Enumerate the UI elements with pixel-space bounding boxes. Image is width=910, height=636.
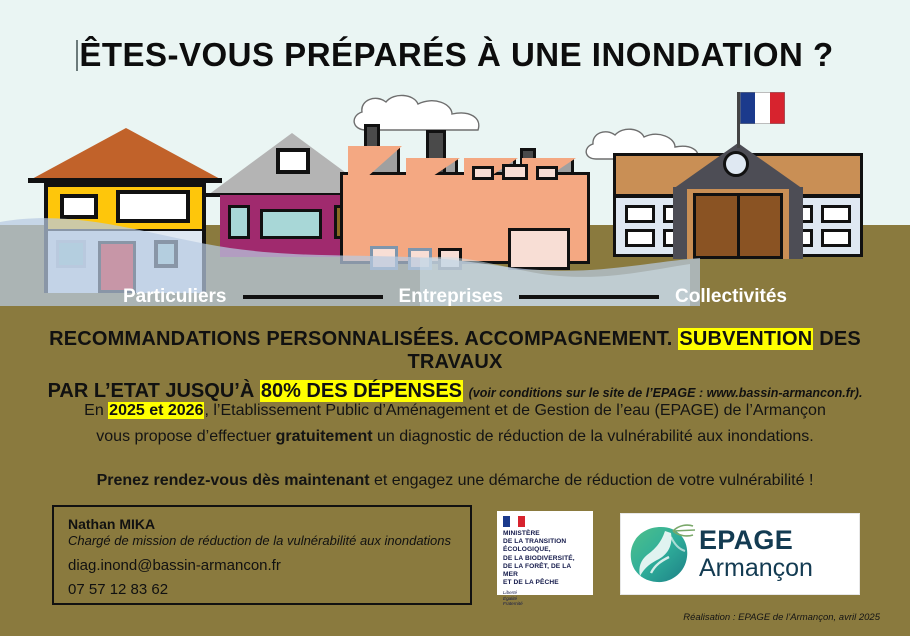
category-label-collectivites: Collectivités (675, 286, 787, 308)
page-title: ÊTES-VOUS PRÉPARÉS À UNE INONDATION ? (0, 36, 910, 74)
factory-window-upper-1 (472, 166, 494, 180)
ministry-logo-text: MINISTÈRE DE LA TRANSITION ÉCOLOGIQUE, D… (503, 530, 587, 587)
para-p1-c: vous propose d’effectuer (96, 428, 275, 445)
french-flag-icon (740, 92, 785, 124)
connector-line-1 (243, 295, 383, 299)
para-p1-d: un diagnostic de réduction de la vulnéra… (373, 428, 814, 445)
para-p1-a: En (84, 402, 108, 419)
epage-name-top: EPAGE (699, 527, 813, 554)
para-cta-bold: Prenez rendez-vous dès maintenant (97, 472, 370, 489)
ministry-line-3: ÉCOLOGIQUE, (503, 546, 587, 554)
credit-line: Réalisation : EPAGE de l’Armançon, avril… (0, 612, 880, 623)
epage-logo-text: EPAGE Armançon (699, 527, 813, 581)
epage-name-bottom: Armançon (699, 556, 813, 581)
house-roof (30, 128, 222, 180)
epage-leaf-icon (621, 519, 699, 589)
french-flag-small-icon (503, 516, 525, 527)
motto-fraternite: Fraternité (503, 601, 587, 606)
category-label-entreprises: Entreprises (399, 286, 504, 308)
paragraph-line-3: Prenez rendez-vous dès maintenant et eng… (0, 468, 910, 494)
contact-email[interactable]: diag.inond@bassin-armancon.fr (68, 557, 456, 574)
para-years-highlight: 2025 et 2026 (108, 402, 204, 419)
epage-logo: EPAGE Armançon (620, 513, 860, 595)
title-text: ÊTES-VOUS PRÉPARÉS À UNE INONDATION ? (79, 36, 833, 73)
connector-line-2 (519, 295, 659, 299)
ministry-line-1: MINISTÈRE (503, 530, 587, 538)
contact-name: Nathan MIKA (68, 516, 456, 532)
paragraph-line-2: vous propose d’effectuer gratuitement un… (0, 424, 910, 450)
para-p1-b: , l’Etablissement Public d’Aménagement e… (204, 402, 825, 419)
flood-preparedness-poster: ÊTES-VOUS PRÉPARÉS À UNE INONDATION ? Pa… (0, 0, 910, 636)
reco-subvention-highlight: SUBVENTION (678, 328, 813, 350)
para-gratuitement-bold: gratuitement (276, 428, 373, 445)
recommendation-line-1: RECOMMANDATIONS PERSONNALISÉES. ACCOMPAG… (0, 328, 910, 374)
ministry-line-6: ET DE LA PÊCHE (503, 579, 587, 587)
category-label-row: Particuliers Entreprises Collectivités (0, 282, 910, 312)
body-paragraph-block: En 2025 et 2026, l’Etablissement Public … (0, 398, 910, 494)
ministry-line-5: DE LA FORÊT, DE LA MER (503, 563, 587, 579)
factory-roof-slope-2 (406, 158, 460, 194)
reco-line1-part-a: RECOMMANDATIONS PERSONNALISÉES. ACCOMPAG… (49, 328, 678, 350)
factory-roof-slope-1 (348, 146, 402, 194)
ministry-line-4: DE LA BIODIVERSITÉ, (503, 555, 587, 563)
ministry-motto: Liberté Égalité Fraternité (503, 590, 587, 606)
town-hall-oculus-window (723, 151, 749, 177)
ministry-logo: MINISTÈRE DE LA TRANSITION ÉCOLOGIQUE, D… (497, 511, 593, 595)
factory-window-upper-3 (536, 166, 558, 180)
category-label-particuliers: Particuliers (123, 286, 227, 308)
contact-phone[interactable]: 07 57 12 83 62 (68, 581, 456, 598)
text-caret (76, 40, 78, 71)
factory-window-upper-2 (502, 164, 528, 180)
recommendation-block: RECOMMANDATIONS PERSONNALISÉES. ACCOMPAG… (0, 328, 910, 403)
para-cta-rest: et engagez une démarche de réduction de … (370, 472, 814, 489)
paragraph-line-1: En 2025 et 2026, l’Etablissement Public … (0, 398, 910, 424)
contact-role: Chargé de mission de réduction de la vul… (68, 533, 456, 548)
house2-attic-window (276, 148, 310, 174)
contact-box: Nathan MIKA Chargé de mission de réducti… (52, 505, 472, 605)
